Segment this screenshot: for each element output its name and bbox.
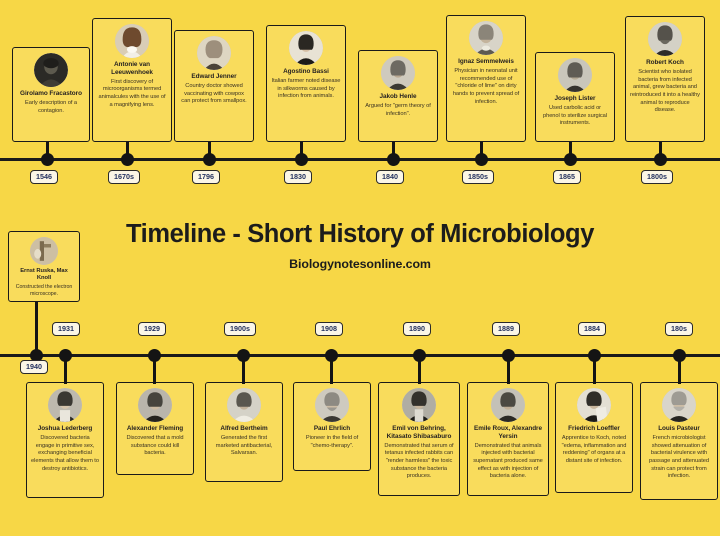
card-description: Italian farmer noted disease in silkworm… bbox=[271, 78, 341, 101]
card-name: Alfred Bertheim bbox=[220, 425, 267, 433]
date-badge-180s[interactable]: 180s bbox=[665, 322, 693, 336]
card-name: Jakob Henle bbox=[379, 93, 416, 101]
date-badge-1931[interactable]: 1931 bbox=[52, 322, 80, 336]
timeline-node-1884[interactable] bbox=[588, 349, 601, 362]
portrait-robert-koch bbox=[648, 22, 682, 56]
portrait-edward-jenner bbox=[197, 36, 231, 70]
card-description: Demonstrated that serum of tetanus infec… bbox=[383, 443, 455, 481]
timeline-card-louis-pasteur[interactable]: Louis Pasteur French microbiologist show… bbox=[640, 382, 718, 500]
timeline-card-friedrich-loeffler[interactable]: Friedrich Loeffler Apprentice to Koch, n… bbox=[555, 382, 633, 493]
card-name: Joshua Lederberg bbox=[38, 425, 93, 433]
portrait-alfred-bertheim bbox=[227, 388, 261, 422]
date-badge-1850s[interactable]: 1850s bbox=[462, 170, 494, 184]
card-description: Scientist who isolated bacteria from inf… bbox=[630, 69, 700, 115]
card-name: Ignaz Semmelweis bbox=[458, 58, 514, 66]
portrait-antonie-van-leeuwenhoek bbox=[115, 24, 149, 58]
card-description: Demonstrated that animals injected with … bbox=[472, 443, 544, 481]
card-name: Emil von Behring, Kitasato Shibasaburo bbox=[383, 425, 455, 440]
card-name: Paul Ehrlich bbox=[314, 425, 350, 433]
timeline-card-antonie-van-leeuwenhoek[interactable]: Antonie van Leeuwenhoek First discovery … bbox=[92, 18, 172, 142]
timeline-node-1931[interactable] bbox=[59, 349, 72, 362]
date-badge-1796[interactable]: 1796 bbox=[192, 170, 220, 184]
timeline-node-1670s[interactable] bbox=[121, 153, 134, 166]
timeline-card-robert-koch[interactable]: Robert Koch Scientist who isolated bacte… bbox=[625, 16, 705, 142]
timeline-node-1865[interactable] bbox=[564, 153, 577, 166]
timeline-card-jakob-henle[interactable]: Jakob Henle Argued for "germ theory of i… bbox=[358, 50, 438, 142]
portrait-ignaz-semmelweis bbox=[469, 21, 503, 55]
portrait-girolamo-fracastoro bbox=[34, 53, 68, 87]
portrait-ernst-ruska-max-knoll bbox=[30, 237, 58, 265]
timeline-card-joshua-lederberg[interactable]: Joshua Lederberg Discovered bacteria eng… bbox=[26, 382, 104, 498]
timeline-node-1800s[interactable] bbox=[654, 153, 667, 166]
card-name: Agostino Bassi bbox=[283, 68, 329, 76]
card-description: Physician in neonatal unit recommended u… bbox=[451, 68, 521, 106]
timeline-card-girolamo-fracastoro[interactable]: Girolamo Fracastoro Early description of… bbox=[12, 47, 90, 142]
date-badge-1890[interactable]: 1890 bbox=[403, 322, 431, 336]
card-description: Pioneer in the field of "chemo-therapy". bbox=[298, 435, 366, 450]
date-badge-1830[interactable]: 1830 bbox=[284, 170, 312, 184]
timeline-infographic: Girolamo Fracastoro Early description of… bbox=[0, 0, 720, 536]
timeline-node-1889[interactable] bbox=[502, 349, 515, 362]
card-description: Early description of a contagion. bbox=[17, 100, 85, 115]
portrait-joseph-lister bbox=[558, 58, 592, 92]
timeline-card-emil-von-behring-kitasato-shibasaburo[interactable]: Emil von Behring, Kitasato Shibasaburo D… bbox=[378, 382, 460, 496]
stem-lead-ernst-ruska bbox=[35, 302, 38, 356]
date-badge-1940[interactable]: 1940 bbox=[20, 360, 48, 374]
page-subtitle: Biologynotesonline.com bbox=[0, 257, 720, 271]
date-badge-1884[interactable]: 1884 bbox=[578, 322, 606, 336]
timeline-node-1900s[interactable] bbox=[237, 349, 250, 362]
card-description: Discovered that a mold substance could k… bbox=[121, 435, 189, 458]
title-block: Timeline - Short History of Microbiology… bbox=[0, 222, 720, 271]
timeline-card-joseph-lister[interactable]: Joseph Lister Used carbolic acid or phen… bbox=[535, 52, 615, 142]
timeline-card-ernst-ruska-max-knoll[interactable]: Ernst Ruska, Max Knoll Constructed the e… bbox=[8, 231, 80, 302]
bottom-timeline-axis bbox=[0, 354, 720, 357]
timeline-card-paul-ehrlich[interactable]: Paul Ehrlich Pioneer in the field of "ch… bbox=[293, 382, 371, 471]
timeline-card-ignaz-semmelweis[interactable]: Ignaz Semmelweis Physician in neonatal u… bbox=[446, 15, 526, 142]
portrait-paul-ehrlich bbox=[315, 388, 349, 422]
card-description: Generated the first marketed antibacteri… bbox=[210, 435, 278, 458]
card-description: Constructed the electron microscope. bbox=[13, 284, 75, 298]
card-description: Argued for "germ theory of infection". bbox=[363, 103, 433, 118]
portrait-agostino-bassi bbox=[289, 31, 323, 65]
timeline-node-1929[interactable] bbox=[148, 349, 161, 362]
card-name: Antonie van Leeuwenhoek bbox=[97, 61, 167, 76]
page-title: Timeline - Short History of Microbiology bbox=[0, 222, 720, 248]
card-name: Joseph Lister bbox=[555, 95, 596, 103]
card-description: First discovery of microorganisms termed… bbox=[97, 79, 167, 110]
portrait-alexander-fleming bbox=[138, 388, 172, 422]
date-badge-1670s[interactable]: 1670s bbox=[108, 170, 140, 184]
date-badge-1546[interactable]: 1546 bbox=[30, 170, 58, 184]
card-name: Alexander Fleming bbox=[127, 425, 183, 433]
date-badge-1908[interactable]: 1908 bbox=[315, 322, 343, 336]
date-badge-1800s[interactable]: 1800s bbox=[641, 170, 673, 184]
timeline-node-1796[interactable] bbox=[203, 153, 216, 166]
timeline-card-edward-jenner[interactable]: Edward Jenner Country doctor showed vacc… bbox=[174, 30, 254, 142]
card-description: Discovered bacteria engage in primitive … bbox=[31, 435, 99, 473]
date-badge-1929[interactable]: 1929 bbox=[138, 322, 166, 336]
card-name: Edward Jenner bbox=[191, 73, 236, 81]
top-timeline-axis bbox=[0, 158, 720, 161]
timeline-node-1840[interactable] bbox=[387, 153, 400, 166]
card-name: Girolamo Fracastoro bbox=[20, 90, 82, 98]
timeline-node-1850s[interactable] bbox=[475, 153, 488, 166]
card-description: French microbiologist showed attenuation… bbox=[645, 435, 713, 481]
card-name: Friedrich Loeffler bbox=[568, 425, 620, 433]
portrait-friedrich-loeffler bbox=[577, 388, 611, 422]
card-name: Louis Pasteur bbox=[658, 425, 700, 433]
timeline-node-180s[interactable] bbox=[673, 349, 686, 362]
card-name: Ernst Ruska, Max Knoll bbox=[13, 268, 75, 282]
card-name: Robert Koch bbox=[646, 59, 684, 67]
timeline-card-alexander-fleming[interactable]: Alexander Fleming Discovered that a mold… bbox=[116, 382, 194, 475]
timeline-node-1908[interactable] bbox=[325, 349, 338, 362]
timeline-card-alfred-bertheim[interactable]: Alfred Bertheim Generated the first mark… bbox=[205, 382, 283, 482]
portrait-emil-von-behring-kitasato-shibasaburo bbox=[402, 388, 436, 422]
portrait-joshua-lederberg bbox=[48, 388, 82, 422]
timeline-card-agostino-bassi[interactable]: Agostino Bassi Italian farmer noted dise… bbox=[266, 25, 346, 142]
timeline-node-1546[interactable] bbox=[41, 153, 54, 166]
card-description: Country doctor showed vaccinating with c… bbox=[179, 83, 249, 106]
date-badge-1865[interactable]: 1865 bbox=[553, 170, 581, 184]
date-badge-1840[interactable]: 1840 bbox=[376, 170, 404, 184]
portrait-louis-pasteur bbox=[662, 388, 696, 422]
date-badge-1900s[interactable]: 1900s bbox=[224, 322, 256, 336]
portrait-emile-roux-alexandre-yersin bbox=[491, 388, 525, 422]
card-description: Apprentice to Koch, noted "edema, inflam… bbox=[560, 435, 628, 466]
timeline-node-1830[interactable] bbox=[295, 153, 308, 166]
date-badge-1889[interactable]: 1889 bbox=[492, 322, 520, 336]
timeline-card-emile-roux-alexandre-yersin[interactable]: Emile Roux, Alexandre Yersin Demonstrate… bbox=[467, 382, 549, 496]
portrait-jakob-henle bbox=[381, 56, 415, 90]
timeline-node-1890[interactable] bbox=[413, 349, 426, 362]
card-name: Emile Roux, Alexandre Yersin bbox=[472, 425, 544, 440]
card-description: Used carbolic acid or phenol to steriliz… bbox=[540, 105, 610, 128]
